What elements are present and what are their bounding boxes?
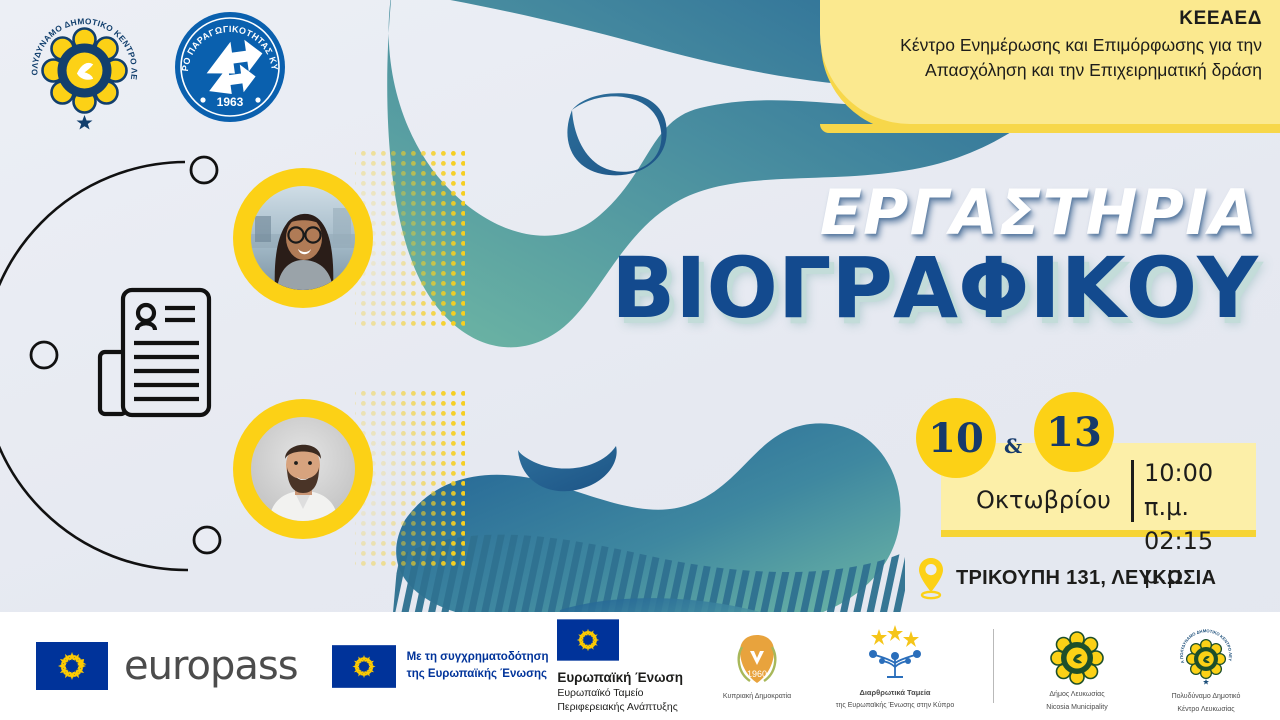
polydynamo-footer-logo: ΙΔΡΥΜΑ ΠΟΛΥΔΥΝΑΜΟ ΔΗΜΟΤΙΚΟ ΚΕΝΤΡΟ ΛΕΥΚΩΣ… [1152, 627, 1260, 714]
event-date-block: Οκτωβρίου 10:00 π.μ. 02:15 μ.μ. & 10 13 [916, 398, 1256, 558]
structural-funds-tree-icon [849, 625, 941, 685]
header-line-2: Απασχόληση και την Επιχειρηματική δράση [832, 58, 1262, 83]
poster-canvas: ΙΔΡΥΜΑ ΠΟΛΥΔΥΝΑΜΟ ΔΗΜΟΤΙΚΟ ΚΕΝΤΡΟ ΛΕΥΚΩΣ… [0, 0, 1280, 720]
cyprus-republic-coat-of-arms-icon: 1960 [730, 631, 784, 689]
eu-flag-icon [36, 642, 108, 690]
svg-text:1960: 1960 [747, 669, 767, 679]
structural-funds-logo: Διαρθρωτικά Ταμεία της Ευρωπαϊκής Ένωσης… [831, 625, 959, 711]
event-day-2: 13 [1034, 392, 1114, 472]
nicosia-caption-1: Δήμος Λευκωσίας [1049, 690, 1104, 699]
eu-fund-line-2: Περιφερειακής Ανάπτυξης [557, 701, 683, 715]
eu-flag-icon [557, 619, 619, 661]
star-icon [77, 115, 93, 130]
logo2-year: 1963 [217, 95, 244, 109]
header-acronym: ΚΕΕΑΕΔ [832, 8, 1262, 30]
orbit-node-left [31, 342, 57, 368]
eu-fund-line-1: Ευρωπαϊκό Ταμείο [557, 687, 683, 701]
event-time-1: 10:00 π.μ. [1144, 456, 1256, 524]
title-line-2: ΒΙΟΓΡΑΦΙΚΟΥ [611, 246, 1258, 332]
eu-regional-fund-logo: Ευρωπαϊκή Ένωση Ευρωπαϊκό Ταμείο Περιφερ… [557, 619, 683, 714]
footer-logo-bar: europass [0, 612, 1280, 720]
header-line-1: Κέντρο Ενημέρωσης και Επιμόρφωσης για τη… [832, 33, 1262, 58]
eu-fund-title: Ευρωπαϊκή Ένωση [557, 670, 683, 685]
avatar-man [233, 399, 373, 539]
date-ampersand: & [1004, 434, 1022, 458]
time-divider [1131, 460, 1134, 522]
event-address-row: ΤΡΙΚΟΥΠΗ 131, ΛΕΥΚΩΣΙΑ [916, 556, 1216, 600]
page-title: ΕΡΓΑΣΤΗΡΙΑ ΒΙΟΓΡΑΦΙΚΟΥ [611, 182, 1258, 332]
nicosia-municipality-icon [1048, 629, 1106, 687]
cyprus-caption: Κυπριακή Δημοκρατία [723, 692, 791, 701]
kentro-paragogikotitas-logo: ΚΕΝΤΡΟ ΠΑΡΑΓΩΓΙΚΟΤΗΤΑΣ ΚΥΠΡΟΥ 1963 [171, 8, 289, 138]
orbit-node-top [191, 157, 217, 183]
cyprus-republic-logo: 1960 Κυπριακή Δημοκρατία [709, 631, 805, 701]
footer-divider [993, 629, 994, 703]
polydynamo-dimotiko-kentro-logo: ΙΔΡΥΜΑ ΠΟΛΥΔΥΝΑΜΟ ΔΗΜΟΤΙΚΟ ΚΕΝΤΡΟ ΛΕΥΚΩΣ… [22, 8, 147, 138]
cofinance-line-1: Με τη συγχρηματοδότηση [407, 649, 549, 666]
event-day-1: 10 [916, 398, 996, 478]
polydynamo-centre-icon: ΙΔΡΥΜΑ ΠΟΛΥΔΥΝΑΜΟ ΔΗΜΟΤΙΚΟ ΚΕΝΤΡΟ ΛΕΥΚΩΣ… [1175, 627, 1237, 689]
event-address: ΤΡΙΚΟΥΠΗ 131, ΛΕΥΚΩΣΙΑ [956, 567, 1216, 590]
title-line-1: ΕΡΓΑΣΤΗΡΙΑ [611, 182, 1258, 244]
eu-flag-icon [332, 645, 396, 688]
nicosia-municipality-logo: Δήμος Λευκωσίας Nicosia Municipality [1028, 629, 1126, 712]
eu-cofinance-logo: Με τη συγχρηματοδότηση της Ευρωπαϊκής Έν… [332, 645, 549, 688]
orbit-node-bottom [194, 527, 220, 553]
polydynamo-caption-1: Πολυδύναμο Δημοτικό [1172, 692, 1241, 701]
header-text-block: ΚΕΕΑΕΔ Κέντρο Ενημέρωσης και Επιμόρφωσης… [832, 8, 1262, 83]
orbit-circle [0, 130, 430, 600]
cofinance-line-2: της Ευρωπαϊκής Ένωσης [407, 666, 549, 683]
polydynamo-caption-2: Κέντρο Λευκωσίας [1177, 705, 1234, 714]
institution-logos: ΙΔΡΥΜΑ ΠΟΛΥΔΥΝΑΜΟ ΔΗΜΟΤΙΚΟ ΚΕΝΤΡΟ ΛΕΥΚΩΣ… [22, 8, 289, 138]
location-pin-icon [916, 556, 946, 600]
europass-logo: europass [36, 642, 298, 690]
cv-document-icon [100, 290, 209, 415]
event-month: Οκτωβρίου [976, 486, 1111, 514]
structural-funds-caption-bold: Διαρθρωτικά Ταμεία [859, 688, 930, 698]
avatar-woman [233, 168, 373, 308]
nicosia-caption-2: Nicosia Municipality [1046, 703, 1107, 712]
europass-wordmark: europass [124, 643, 298, 689]
left-artwork [0, 130, 430, 600]
structural-funds-caption: της Ευρωπαϊκής Ένωσης στην Κύπρο [836, 701, 954, 710]
